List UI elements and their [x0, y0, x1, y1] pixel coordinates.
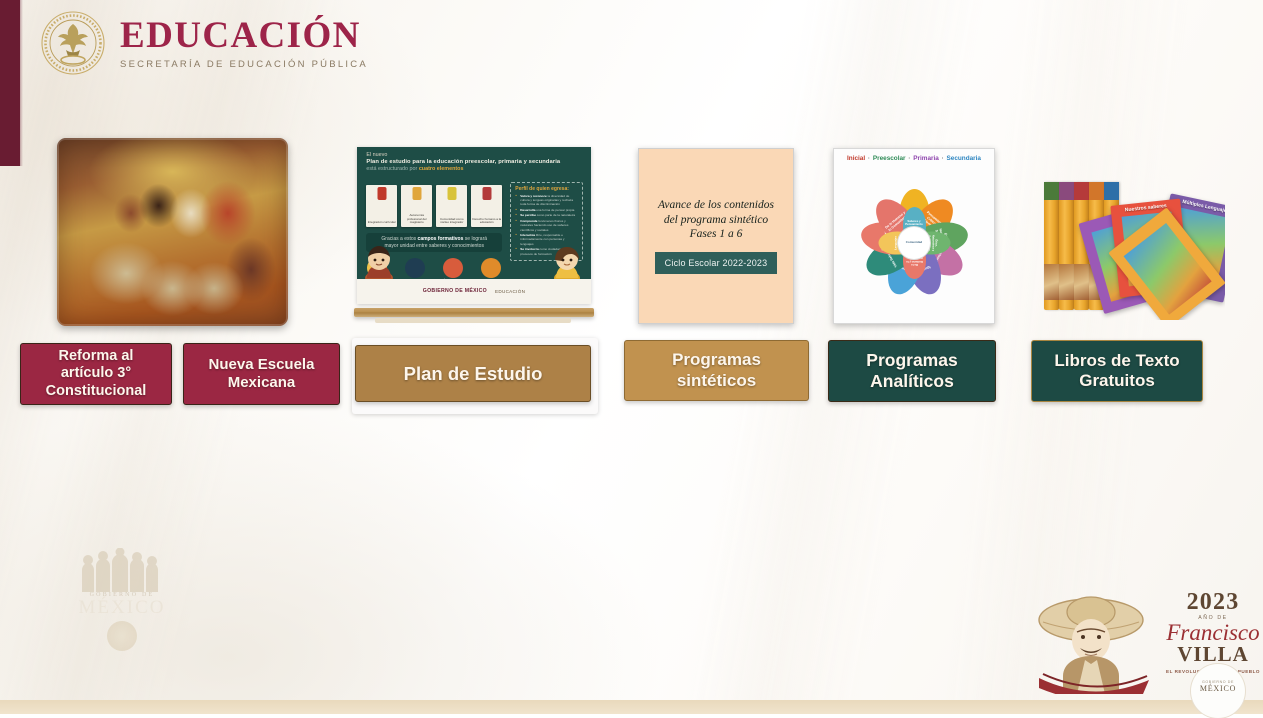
flower-diagram-header: Inicial · Preescolar · Primaria · Secund…	[834, 155, 994, 162]
stage-libros-de-texto: Múltiples Lenguajes Nuestros saberes Lib…	[1030, 160, 1225, 320]
perfil-item: Desarrolla una forma de pensar propia	[515, 208, 578, 212]
card-plan-de-estudio-label: Plan de Estudio	[404, 363, 543, 385]
programa-sintetico-document-cover[interactable]: Avance de los contenidos del programa si…	[638, 148, 794, 324]
card-programas-analiticos-line2: Analíticos	[870, 371, 954, 392]
sintetico-doc-title-line1: Avance de los contenidos	[658, 198, 774, 213]
page-title: EDUCACIÓN	[120, 17, 368, 54]
infographic-heading-line3: está estructurado por cuatro elementos	[366, 166, 581, 172]
element-label: Integración curricular	[367, 221, 396, 224]
element-card: Integración curricular	[366, 185, 397, 227]
infographic-element-cards: Integración curricular Autonomía profesi…	[366, 185, 502, 227]
card-nueva-escuela-line1: Nueva Escuela	[209, 356, 315, 374]
element-label: Derecho humano a la educación	[472, 218, 501, 225]
element-icon	[377, 187, 386, 200]
sintetico-doc-cycle-band: Ciclo Escolar 2022-2023	[655, 252, 778, 274]
card-libros-line2: Gratuitos	[1079, 371, 1155, 391]
card-programas-analiticos[interactable]: Programas Analíticos	[828, 340, 996, 402]
card-libros-line1: Libros de Texto	[1054, 351, 1179, 371]
infographic-heading: El nuevo Plan de estudio para la educaci…	[366, 152, 581, 172]
stage-programas-sinteticos: Avance de los contenidos del programa si…	[638, 148, 794, 324]
campos-line1: Gracias a estos campos formativos se log…	[370, 236, 498, 243]
infographic-footer-gob-label: GOBIERNO DE MÉXICO	[423, 288, 487, 294]
mexico-coat-of-arms-icon	[40, 10, 106, 76]
plan-de-estudio-infographic[interactable]: El nuevo Plan de estudio para la educaci…	[357, 147, 591, 304]
perfil-title: Perfil de quien egresa:	[515, 186, 578, 192]
element-label: Autonomía profesional del magisterio	[402, 214, 431, 224]
book-spine-head	[1089, 182, 1104, 200]
sintetico-doc-title-line2: del programa sintético	[658, 213, 774, 228]
watermark-seal-icon	[107, 621, 137, 651]
card-reforma-line1: Reforma al	[59, 348, 134, 365]
stage-plan-de-estudio: El nuevo Plan de estudio para la educaci…	[357, 147, 591, 304]
villa-text-block: 2023 AÑO DE Francisco VILLA EL REVOLUCIO…	[1165, 590, 1261, 674]
flower-core-label: Comunidad	[906, 241, 923, 244]
book-spine-art	[1044, 264, 1059, 300]
book-spine-head	[1044, 182, 1059, 200]
sintetico-doc-title-line3: Fases 1 a 6	[658, 227, 774, 242]
villa-name-caps: VILLA	[1165, 644, 1261, 665]
element-icon	[482, 187, 491, 200]
page-header: EDUCACIÓN SECRETARÍA DE EDUCACIÓN PÚBLIC…	[40, 10, 368, 76]
sintetico-doc-title: Avance de los contenidos del programa si…	[658, 198, 774, 242]
rural-teacher-mural-painting[interactable]	[57, 138, 288, 326]
perfil-item: Se percibe como parte de la naturaleza	[515, 213, 578, 217]
card-programas-sinteticos-line2: sintéticos	[677, 371, 756, 391]
card-programas-sinteticos[interactable]: Programas sintéticos	[624, 340, 809, 401]
flower-header-item: Primaria	[913, 155, 939, 162]
element-card: Derecho humano a la educación	[471, 185, 502, 227]
page-subtitle: SECRETARÍA DE EDUCACIÓN PÚBLICA	[120, 59, 368, 70]
element-card: Comunidad como núcleo integrador	[436, 185, 467, 227]
flower-header-sep: ·	[868, 155, 870, 162]
flower-header-sep: ·	[942, 155, 944, 162]
card-reforma-articulo-3[interactable]: Reforma al artículo 3° Constitucional	[20, 343, 172, 405]
card-programas-analiticos-line1: Programas	[866, 350, 957, 371]
campo-icon	[443, 258, 463, 278]
card-nueva-escuela-mexicana[interactable]: Nueva Escuela Mexicana	[183, 343, 340, 405]
infographic-footer-logos: GOBIERNO DE MÉXICO EDUCACIÓN	[357, 279, 591, 304]
villa-year: 2023	[1165, 590, 1261, 614]
card-reforma-line2: artículo 3°	[61, 365, 131, 382]
flower-header-sep: ·	[908, 155, 910, 162]
campo-icon	[405, 258, 425, 278]
book-spine-head	[1059, 182, 1074, 200]
stage-programas-analiticos: Inicial · Preescolar · Primaria · Secund…	[833, 148, 995, 324]
campo-icon	[481, 258, 501, 278]
plan-de-estudio-podium-bar	[354, 308, 594, 317]
left-accent-bar	[0, 0, 20, 166]
perfil-item: Valora y reconoce la diversidad de cultu…	[515, 194, 578, 207]
mural-inner-shading	[57, 138, 288, 326]
element-icon	[447, 187, 456, 200]
flower-header-item: Secundaria	[947, 155, 981, 162]
flower-header-item: Preescolar	[873, 155, 906, 162]
card-nueva-escuela-line2: Mexicana	[228, 374, 296, 392]
book-spine-head	[1104, 182, 1119, 200]
gobierno-de-mexico-watermark: GOBIERNO DE MÉXICO	[62, 548, 182, 640]
card-plan-de-estudio[interactable]: Plan de Estudio	[355, 345, 591, 402]
stage-reforma: Reforma al artículo 3° Constitucional Nu…	[57, 138, 288, 326]
infographic-heading-line2: Plan de estudio para la educación preesc…	[366, 159, 581, 165]
flower-header-item: Inicial	[847, 155, 865, 162]
book-spine-art	[1074, 264, 1089, 300]
flower-core-comunidad: Comunidad	[898, 227, 930, 259]
child-illustration-left-icon	[362, 244, 396, 284]
plan-de-estudio-podium-base	[375, 318, 571, 323]
watermark-line2: MÉXICO	[62, 598, 182, 617]
card-libros-de-texto-gratuitos[interactable]: Libros de Texto Gratuitos	[1031, 340, 1203, 402]
element-card: Autonomía profesional del magisterio	[401, 185, 432, 227]
corner-seal-line2: MÉXICO	[1200, 684, 1236, 693]
watermark-figures-icon	[62, 548, 182, 592]
villa-name-script: Francisco	[1165, 622, 1261, 644]
book-spine-art	[1059, 264, 1074, 300]
card-programas-sinteticos-line1: Programas	[672, 350, 761, 370]
perfil-item: Comprende fenómenos físicos y naturales …	[515, 219, 578, 232]
free-textbooks-photo[interactable]: Múltiples Lenguajes Nuestros saberes	[1030, 160, 1225, 320]
card-reforma-line3: Constitucional	[46, 383, 147, 400]
gobierno-de-mexico-corner-seal: GOBIERNO DE MÉXICO	[1191, 664, 1245, 718]
book-spine	[1059, 182, 1074, 310]
book-spine	[1044, 182, 1059, 310]
element-label: Comunidad como núcleo integrador	[437, 218, 466, 225]
infographic-heading-line1: El nuevo	[366, 152, 581, 158]
bottom-strip	[0, 700, 1263, 714]
flower-petals-group: Lenguajes Pensamiento Crítico y Científi…	[851, 180, 977, 306]
child-illustration-right-icon	[550, 244, 584, 284]
infographic-footer-educacion-label: EDUCACIÓN	[495, 289, 525, 294]
campos-formativos-flower-diagram[interactable]: Inicial · Preescolar · Primaria · Secund…	[833, 148, 995, 324]
element-icon	[412, 187, 421, 200]
book-spine-head	[1074, 182, 1089, 200]
